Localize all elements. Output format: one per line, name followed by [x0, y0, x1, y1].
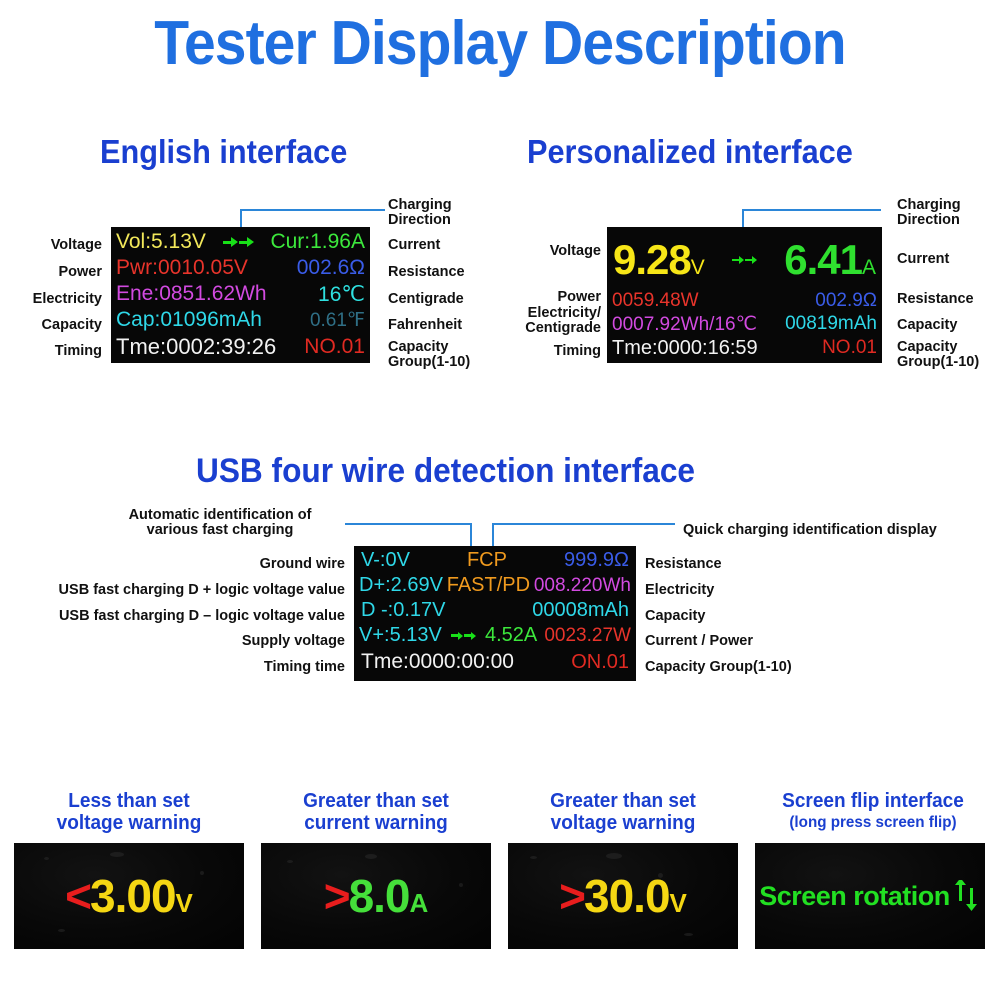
label-english-current: Current [388, 238, 440, 253]
warning-screen-low-voltage: <3.00V [14, 843, 244, 949]
warning-unit-3: V [670, 888, 687, 918]
label-usb-quick-charging-display: Quick charging identification display [683, 523, 937, 538]
warning-unit-2: A [410, 888, 429, 918]
usb-resistance-value: 999.9Ω [564, 549, 629, 572]
label-english-resistance: Resistance [388, 265, 465, 280]
label-usb-resistance: Resistance [645, 557, 722, 572]
usb-supply-voltage-value: V+:5.13V [359, 624, 442, 647]
label-usb-capacity: Capacity [645, 609, 705, 624]
usb-current-value: 4.52A [485, 624, 537, 647]
page-title: Tester Display Description [40, 8, 960, 79]
leader-line-horizontal-usb-left [345, 523, 472, 525]
usb-fast-charge-protocol-2: FAST/PD [447, 574, 530, 597]
warning-value-1: <3.00V [14, 869, 244, 923]
rotate-icon [951, 880, 981, 912]
english-current-value: Cur:1.96A [270, 230, 365, 254]
section-heading-personalized: Personalized interface [527, 133, 853, 171]
english-power-value: Pwr:0010.05V [116, 256, 248, 280]
charging-direction-arrows-icon-usb [451, 632, 476, 640]
usb-dminus-value: D -:0.17V [361, 599, 445, 622]
charging-direction-arrows-icon [223, 237, 254, 247]
personalized-capacity-value: 00819mAh [785, 313, 877, 335]
warning-unit-1: V [176, 888, 193, 918]
english-capacity-value: Cap:01096mAh [116, 308, 262, 332]
less-than-sign-icon: < [65, 870, 90, 922]
label-personalized-capacity-group: Capacity Group(1-10) [897, 340, 979, 370]
label-personalized-voltage: Voltage [500, 244, 601, 259]
screen-rotation-value: Screen rotation [755, 880, 985, 912]
english-voltage-value: Vol:5.13V [116, 230, 206, 254]
warning-title-1: Less than set voltage warning [20, 790, 239, 834]
personalized-resistance-value: 002.9Ω [815, 290, 877, 312]
english-time-value: Tme:0002:39:26 [116, 334, 276, 360]
label-usb-electricity: Electricity [645, 583, 714, 598]
personalized-voltage-group: 9.28 V [613, 236, 705, 284]
label-usb-capacity-group: Capacity Group(1-10) [645, 660, 792, 675]
label-english-voltage: Voltage [0, 238, 102, 253]
personalized-current-value: 6.41 [784, 236, 862, 284]
page-root: Tester Display Description English inter… [0, 0, 1000, 1000]
label-usb-auto-identification: Automatic identification of various fast… [100, 508, 340, 538]
personalized-voltage-unit: V [691, 256, 705, 280]
warning-screen-high-current: >8.0A [261, 843, 491, 949]
personalized-energy-temp-value: 0007.92Wh/16℃ [612, 313, 757, 336]
label-english-fahrenheit: Fahrenheit [388, 318, 462, 333]
usb-capacity-value: 00008mAh [532, 599, 629, 622]
greater-than-sign-icon: > [324, 870, 349, 922]
warning-value-3: >30.0V [508, 869, 738, 923]
warning-title-2: Greater than set current warning [267, 790, 486, 834]
label-english-capacity: Capacity [0, 318, 102, 333]
personalized-time-value: Tme:0000:16:59 [612, 337, 758, 360]
usb-capacity-group-value: ON.01 [571, 651, 629, 674]
label-usb-dminus: USB fast charging D – logic voltage valu… [10, 609, 345, 624]
english-interface-screen: Vol:5.13V Cur:1.96A Pwr:0010.05V 002.6Ω … [111, 227, 370, 363]
charging-direction-arrows-icon-personalized [732, 256, 757, 264]
label-english-charging-direction: Charging Direction [388, 198, 452, 228]
warning-subtitle-4: (long press screen flip) [759, 812, 987, 834]
warning-screen-high-voltage: >30.0V [508, 843, 738, 949]
warning-value-2: >8.0A [261, 869, 491, 923]
label-personalized-current: Current [897, 252, 949, 267]
section-heading-usb: USB four wire detection interface [196, 452, 695, 491]
usb-electricity-value: 008.220Wh [534, 575, 631, 597]
label-english-electricity: Electricity [0, 292, 102, 307]
usb-power-value: 0023.27W [544, 625, 631, 647]
warning-title-4: Screen flip interface [759, 790, 987, 812]
section-heading-english: English interface [100, 133, 347, 171]
leader-line-horizontal-personalized [742, 209, 881, 211]
personalized-capacity-group-value: NO.01 [822, 337, 877, 359]
label-personalized-timing: Timing [500, 344, 601, 359]
label-personalized-resistance: Resistance [897, 292, 974, 307]
usb-dplus-value: D+:2.69V [359, 574, 443, 597]
english-capacity-group-value: NO.01 [304, 335, 365, 359]
label-personalized-electricity-centigrade: Electricity/ Centigrade [500, 306, 601, 336]
label-usb-dplus: USB fast charging D + logic voltage valu… [10, 583, 345, 598]
personalized-voltage-value: 9.28 [613, 236, 691, 284]
label-usb-timing-time: Timing time [10, 660, 345, 675]
label-personalized-power: Power [500, 290, 601, 305]
usb-interface-screen: V-:0V FCP 999.9Ω D+:2.69V FAST/PD 008.22… [354, 546, 636, 681]
english-resistance-value: 002.6Ω [297, 256, 365, 280]
english-centigrade-value: 16℃ [318, 282, 365, 307]
english-fahrenheit-value: 0.61℉ [310, 309, 365, 332]
label-personalized-capacity: Capacity [897, 318, 957, 333]
english-energy-value: Ene:0851.62Wh [116, 282, 267, 306]
label-english-power: Power [0, 265, 102, 280]
label-personalized-charging-direction: Charging Direction [897, 198, 961, 228]
warning-number-1: 3.00 [90, 870, 176, 922]
usb-fast-charge-protocol-1: FCP [467, 549, 507, 572]
label-english-centigrade: Centigrade [388, 292, 464, 307]
label-usb-supply-voltage: Supply voltage [10, 634, 345, 649]
personalized-current-unit: A [862, 256, 876, 280]
personalized-power-value: 0059.48W [612, 290, 699, 312]
label-english-timing: Timing [0, 344, 102, 359]
warning-number-2: 8.0 [349, 870, 410, 922]
warning-title-3: Greater than set voltage warning [514, 790, 733, 834]
usb-ground-wire-value: V-:0V [361, 549, 410, 572]
leader-line-horizontal-english [240, 209, 385, 211]
label-english-capacity-group: Capacity Group(1-10) [388, 340, 470, 370]
personalized-current-group: 6.41 A [784, 236, 876, 284]
leader-line-horizontal-usb-right [492, 523, 675, 525]
greater-than-sign-icon-2: > [559, 870, 584, 922]
warning-number-3: 30.0 [584, 870, 670, 922]
label-usb-current-power: Current / Power [645, 634, 753, 649]
usb-time-value: Tme:0000:00:00 [361, 650, 514, 674]
label-usb-ground-wire: Ground wire [10, 557, 345, 572]
screen-flip-display: Screen rotation [755, 843, 985, 949]
personalized-interface-screen: 9.28 V 6.41 A 0059.48W 002.9Ω 0007.92Wh/… [607, 227, 882, 363]
screen-rotation-label: Screen rotation [759, 881, 950, 912]
